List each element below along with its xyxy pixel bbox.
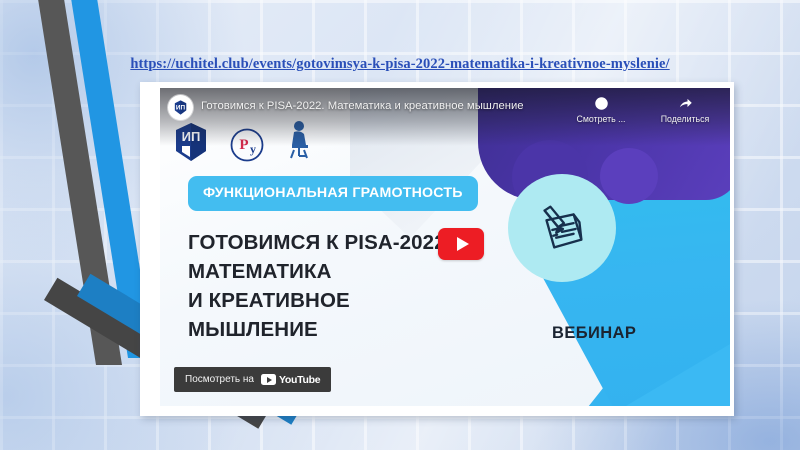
svg-text:ИП: ИП bbox=[176, 105, 186, 112]
event-url-link[interactable]: https://uchitel.club/events/gotovimsya-k… bbox=[130, 56, 669, 72]
youtube-play-icon bbox=[261, 374, 276, 385]
headline-line-4: МЫШЛЕНИЕ bbox=[188, 315, 452, 344]
player-actions: Смотреть ... Поделиться bbox=[570, 96, 716, 125]
video-card: ИП Готовимся к PISA-2022. Математика и к… bbox=[140, 82, 734, 416]
video-title: Готовимся к PISA-2022. Математика и креа… bbox=[201, 99, 531, 114]
watch-pill-prefix: Посмотреть на bbox=[185, 374, 254, 385]
functional-literacy-badge: ФУНКЦИОНАЛЬНАЯ ГРАМОТНОСТЬ bbox=[188, 176, 478, 211]
event-url: https://uchitel.club/events/gotovimsya-k… bbox=[0, 55, 800, 73]
headline-line-3: И КРЕАТИВНОЕ bbox=[188, 286, 452, 315]
channel-avatar[interactable]: ИП bbox=[168, 95, 193, 120]
notepad-icon-circle bbox=[508, 174, 616, 282]
share-action[interactable]: Поделиться bbox=[654, 96, 716, 125]
video-headline: ГОТОВИМСЯ К PISA-2022. МАТЕМАТИКА И КРЕА… bbox=[188, 228, 452, 344]
watch-later-action[interactable]: Смотреть ... bbox=[570, 96, 632, 125]
share-arrow-icon bbox=[654, 96, 716, 113]
slide-canvas: https://uchitel.club/events/gotovimsya-k… bbox=[0, 0, 800, 450]
watch-on-youtube-button[interactable]: Посмотреть на YouTube bbox=[174, 367, 331, 392]
webinar-label: ВЕБИНАР bbox=[552, 324, 636, 343]
youtube-play-button[interactable] bbox=[438, 228, 484, 260]
youtube-wordmark-text: YouTube bbox=[279, 374, 320, 386]
decorative-purple-blob-2 bbox=[600, 148, 658, 204]
notepad-pencil-icon bbox=[531, 197, 593, 259]
watch-later-label: Смотреть ... bbox=[576, 114, 625, 124]
clock-icon bbox=[570, 96, 632, 113]
youtube-embed-player[interactable]: ИП Готовимся к PISA-2022. Математика и к… bbox=[160, 88, 730, 406]
youtube-player-header: ИП Готовимся к PISA-2022. Математика и к… bbox=[160, 88, 730, 146]
ip-shield-icon: ИП bbox=[172, 99, 189, 116]
share-label: Поделиться bbox=[661, 114, 710, 124]
headline-line-1: ГОТОВИМСЯ К PISA-2022. bbox=[188, 228, 452, 257]
youtube-wordmark: YouTube bbox=[261, 374, 320, 386]
headline-line-2: МАТЕМАТИКА bbox=[188, 257, 452, 286]
